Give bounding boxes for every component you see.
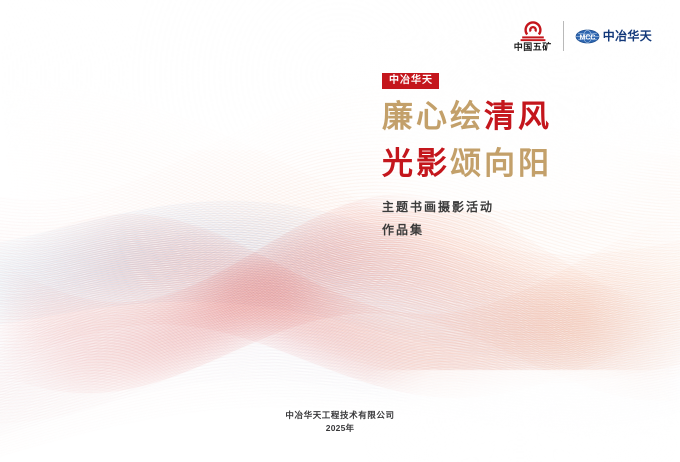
brand-badge: 中冶华天 xyxy=(382,73,439,89)
logo-bar: 中国五矿 MCC 中冶华天 xyxy=(514,20,652,52)
footer-company: 中冶华天工程技术有限公司 xyxy=(0,409,680,422)
subtitle-line-1: 主题书画摄影活动 xyxy=(382,196,552,219)
headline-line-2: 光影颂向阳 xyxy=(382,145,552,183)
headline-line-1: 廉心绘清风 xyxy=(382,98,552,136)
headline-line-1-part-1: 廉心绘 xyxy=(382,99,484,134)
logo-china-minmetals-label: 中国五矿 xyxy=(514,43,552,52)
headline-line-2-part-1: 光影 xyxy=(382,146,450,181)
title-block: 中冶华天 廉心绘清风 光影颂向阳 主题书画摄影活动 作品集 xyxy=(382,70,552,242)
logo-mcc-huatian: MCC 中冶华天 xyxy=(575,29,652,44)
subtitle: 主题书画摄影活动 作品集 xyxy=(382,196,552,243)
logo-mcc-huatian-label: 中冶华天 xyxy=(603,30,652,42)
mcc-globe-mark: MCC xyxy=(575,29,600,44)
subtitle-line-2: 作品集 xyxy=(382,219,552,242)
logo-china-minmetals: 中国五矿 xyxy=(514,20,552,52)
poster-cover: 中国五矿 MCC 中冶华天 中冶华天 廉心绘清风 光影颂向阳 主题书 xyxy=(0,0,680,462)
wave-artwork xyxy=(0,0,680,462)
headline-line-1-part-2: 清风 xyxy=(484,99,552,134)
logo-divider xyxy=(563,21,564,51)
footer-year: 2025年 xyxy=(0,422,680,435)
china-minmetals-pagoda-mark xyxy=(520,20,546,42)
footer: 中冶华天工程技术有限公司 2025年 xyxy=(0,409,680,435)
headline-line-2-part-2: 颂向阳 xyxy=(450,146,552,181)
svg-text:MCC: MCC xyxy=(579,34,595,41)
